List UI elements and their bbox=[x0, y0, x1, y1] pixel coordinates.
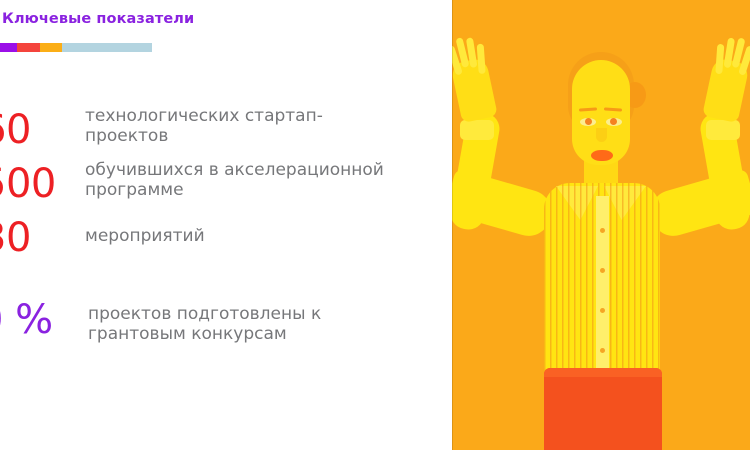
stat-number: 60 bbox=[0, 110, 31, 150]
cuff-left bbox=[460, 120, 494, 140]
slide-root: Ключевые показатели 60 технологических с… bbox=[0, 0, 750, 450]
finger bbox=[477, 44, 486, 74]
pupil-right bbox=[610, 118, 617, 125]
shirt-button bbox=[600, 228, 605, 233]
left-content-column: Ключевые показатели 60 технологических с… bbox=[0, 0, 452, 450]
stat-number: 0 % bbox=[0, 300, 53, 340]
nose bbox=[596, 128, 607, 142]
stat-label: мероприятий bbox=[85, 226, 445, 246]
duotone-photo bbox=[452, 0, 750, 450]
statistics-list: 60 технологических стартап- проектов 500… bbox=[0, 0, 452, 450]
figure-woman bbox=[452, 0, 750, 450]
finger bbox=[715, 44, 724, 74]
pupil-left bbox=[585, 118, 592, 125]
waistband bbox=[544, 368, 662, 377]
stat-label: технологических стартап- проектов bbox=[85, 106, 445, 146]
hand-left bbox=[452, 57, 498, 123]
stat-label: проектов подготовлены к грантовым конкур… bbox=[88, 304, 448, 344]
shirt-button bbox=[600, 348, 605, 353]
lips bbox=[591, 150, 613, 161]
shirt-button bbox=[600, 268, 605, 273]
stat-label: обучившихся в акселерационной программе bbox=[85, 160, 445, 200]
panel-divider bbox=[452, 0, 453, 450]
cuff-right bbox=[706, 120, 740, 140]
stat-number: 500 bbox=[0, 164, 56, 204]
shirt-button bbox=[600, 308, 605, 313]
hand-right bbox=[702, 57, 750, 123]
stat-number: 30 bbox=[0, 218, 31, 258]
skirt bbox=[544, 368, 662, 450]
photo-panel bbox=[452, 0, 750, 450]
